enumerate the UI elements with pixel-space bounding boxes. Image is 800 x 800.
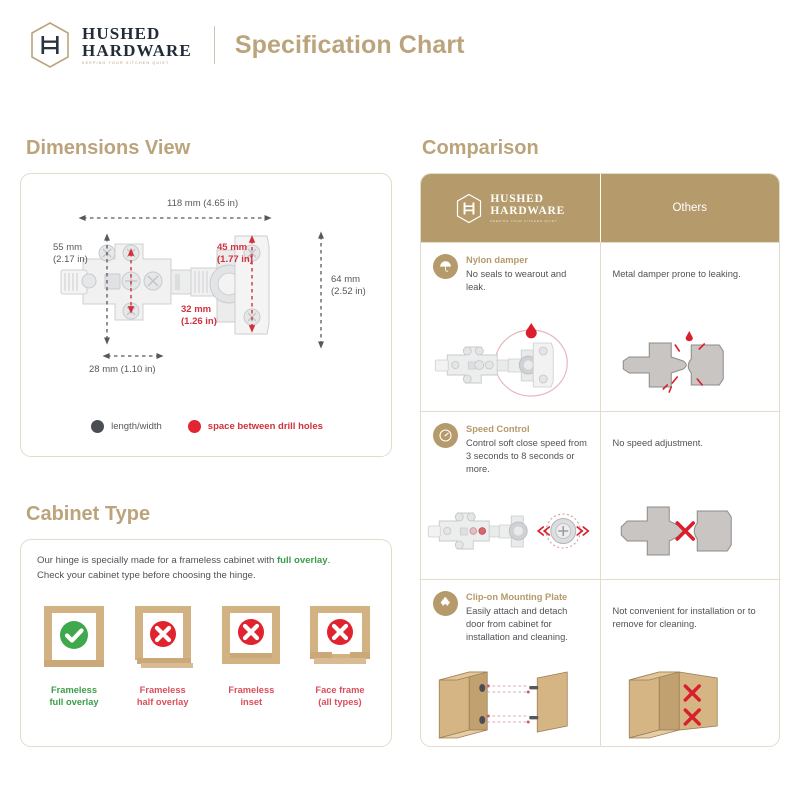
cabinet-type-panel: Our hinge is specially made for a framel… [20,539,392,747]
legend-item-drill-holes: space between drill holes [188,420,323,433]
feature-description: Easily attach and detach door from cabin… [466,605,588,645]
cabinet-type-label-l1: Frameless [51,685,97,695]
comparison-brand-line-2: HARDWARE [490,205,565,217]
comparison-cell-ours: Clip-on Mounting Plate Easily attach and… [421,580,601,747]
header-divider [214,26,215,64]
feature-title: Nylon damper [466,254,588,266]
feature-description: No seals to wearout and leak. [466,268,588,294]
others-description: Metal damper prone to leaking. [613,254,768,281]
comparison-others-label: Others [672,202,707,214]
umbrella-icon [433,254,458,279]
brand-line-2: HARDWARE [82,42,192,59]
cabinet-type-label: Frameless full overlay [49,684,98,708]
comparison-section-heading: Comparison [422,137,539,160]
hinge-speed-control-illustration [421,487,600,573]
others-description: Not convenient for installation or to re… [613,591,768,631]
comparison-header-others: Others [601,174,780,242]
feature-description: Control soft close speed from 3 seconds … [466,437,588,477]
cabinet-type-label-l2: half overlay [137,697,189,707]
dimension-label-height-left-line2: (2.17 in) [53,254,88,266]
dimensions-section-heading: Dimensions View [26,137,190,160]
cabinet-section-heading: Cabinet Type [26,503,150,526]
dimensions-legend: length/width space between drill holes [21,420,393,433]
hexagon-logo-icon [455,193,483,224]
comparison-cell-others: Not convenient for installation or to re… [601,580,780,747]
brand-line-1: HUSHED [82,25,192,42]
dimension-label-drill-45-line1: 45 mm [217,242,247,254]
comparison-cell-others: Metal damper prone to leaking. [601,243,780,411]
legend-dot-red-icon [188,420,201,433]
others-description: No speed adjustment. [613,423,768,450]
clip-on-detach-illustration [421,656,600,742]
page-title: Specification Chart [235,31,465,60]
feature-title: Clip-on Mounting Plate [466,591,588,603]
cabinet-type-option[interactable]: Frameless full overlay [33,602,115,708]
dimension-label-height-right-line1: 64 mm [331,274,360,286]
brand-tagline: KEEPING YOUR KITCHEN QUIET [82,61,192,65]
page-header: HUSHED HARDWARE KEEPING YOUR KITCHEN QUI… [0,0,800,90]
comparison-row: Nylon damper No seals to wearout and lea… [421,242,779,411]
cabinet-type-label-l2: inset [240,697,262,707]
hinge-nylon-damper-illustration [421,319,600,405]
cabinet-type-label-l1: Face frame [315,685,364,695]
specification-chart-page: HUSHED HARDWARE KEEPING YOUR KITCHEN QUI… [0,0,800,800]
legend-item-length-width: length/width [91,420,162,433]
legend-dot-dark-icon [91,420,104,433]
comparison-row: Speed Control Control soft close speed f… [421,411,779,580]
dimension-label-drill-32-line2: (1.26 in) [181,316,217,328]
speed-gauge-icon [433,423,458,448]
cabinet-frameless-full-overlay-icon [38,602,110,674]
cabinet-note-post: . [328,555,331,566]
dimensions-panel: 118 mm (4.65 in) 55 mm (2.17 in) 45 mm (… [20,173,392,457]
cabinet-note-line2: Check your cabinet type before choosing … [37,570,256,581]
comparison-cell-others: No speed adjustment. [601,412,780,580]
comparison-row: Clip-on Mounting Plate Easily attach and… [421,579,779,747]
cabinet-type-label-l2: (all types) [318,697,361,707]
comparison-header-ours: HUSHED HARDWARE KEEPING YOUR KITCHEN QUI… [421,174,601,242]
feature-title: Speed Control [466,423,588,435]
dimension-label-overall-width: 118 mm (4.65 in) [167,198,238,210]
comparison-brand-tagline: KEEPING YOUR KITCHEN QUIET [490,219,565,223]
comparison-cell-ours: Nylon damper No seals to wearout and lea… [421,243,601,411]
cabinet-type-label-l2: full overlay [49,697,98,707]
cabinet-type-grid: Frameless full overlay [33,602,381,708]
cabinet-frameless-half-overlay-icon [127,602,199,674]
comparison-brand-line-1: HUSHED [490,193,565,205]
cabinet-type-option[interactable]: Face frame (all types) [299,602,381,708]
comparison-table-header: HUSHED HARDWARE KEEPING YOUR KITCHEN QUI… [421,174,779,242]
no-speed-adjustment-illustration [601,487,780,573]
cabinet-frameless-inset-icon [215,602,287,674]
comparison-table: HUSHED HARDWARE KEEPING YOUR KITCHEN QUI… [420,173,780,747]
metal-damper-leaking-illustration [601,319,780,405]
cabinet-note-emphasis: full overlay [277,555,328,566]
cabinet-face-frame-icon [304,602,376,674]
cabinet-note-pre: Our hinge is specially made for a framel… [37,555,277,566]
legend-label-drill-holes: space between drill holes [208,421,323,432]
attached-door-not-removable-illustration [601,656,780,742]
dimension-label-drill-45-line2: (1.77 in) [217,254,253,266]
cabinet-note: Our hinge is specially made for a framel… [37,554,379,584]
cabinet-type-option[interactable]: Frameless half overlay [122,602,204,708]
cabinet-type-label: Face frame (all types) [315,684,364,708]
puzzle-piece-icon [433,591,458,616]
cabinet-type-option[interactable]: Frameless inset [210,602,292,708]
brand-logo: HUSHED HARDWARE KEEPING YOUR KITCHEN QUI… [28,21,192,69]
cabinet-type-label: Frameless half overlay [137,684,189,708]
dimension-label-plate-width: 28 mm (1.10 in) [89,364,156,376]
cabinet-type-label-l1: Frameless [228,685,274,695]
dimension-label-drill-32-line1: 32 mm [181,304,211,316]
cabinet-type-label-l1: Frameless [140,685,186,695]
dimension-label-height-right-line2: (2.52 in) [331,286,366,298]
cabinet-type-label: Frameless inset [228,684,274,708]
comparison-cell-ours: Speed Control Control soft close speed f… [421,412,601,580]
dimension-label-height-left-line1: 55 mm [53,242,82,254]
legend-label-length-width: length/width [111,421,162,432]
hexagon-logo-icon [28,21,72,69]
